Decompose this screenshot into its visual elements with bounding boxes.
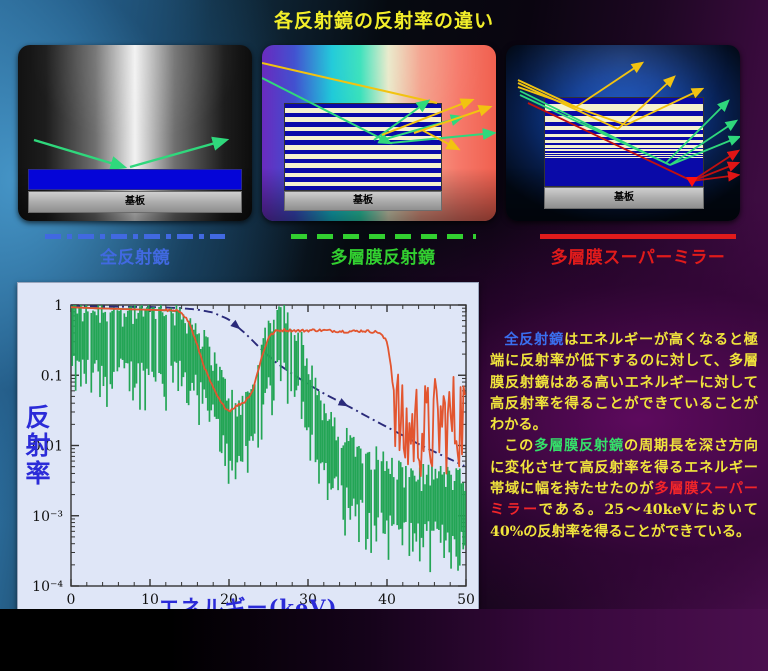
- legend-line-supermirror: [540, 234, 736, 239]
- diagram-multilayer-supermirror: 基板: [506, 45, 740, 221]
- paragraph-2: この多層膜反射鏡の周期長を深さ方向に変化させて高反射率を得るエネルギー帯域に幅を…: [490, 436, 758, 542]
- chart-canvas: 0102030405010.10.0110⁻³10⁻⁴: [18, 283, 478, 619]
- paragraph-1: 全反射鏡はエネルギーが高くなると極端に反射率が低下するのに対して、多層膜反射鏡は…: [490, 330, 758, 436]
- mirror-stack-panel1: 基板: [28, 169, 242, 213]
- legend-line-multilayer: [291, 234, 476, 239]
- svg-text:10⁻³: 10⁻³: [32, 509, 63, 525]
- diagram-total-reflection-mirror: 基板: [18, 45, 252, 221]
- legend-line-total-reflection: [45, 234, 225, 239]
- p2-highlight-multilayer: 多層膜反射鏡: [534, 438, 624, 454]
- svg-text:1: 1: [54, 298, 63, 314]
- p2-seg1: この: [504, 438, 534, 454]
- legend-item-multilayer: 多層膜反射鏡: [278, 234, 488, 268]
- reflectivity-chart: 0102030405010.10.0110⁻³10⁻⁴: [17, 282, 479, 620]
- p1-highlight-total-reflection: 全反射鏡: [504, 332, 564, 348]
- svg-text:0.1: 0.1: [41, 368, 63, 384]
- legend-label-supermirror: 多層膜スーパーミラー: [520, 243, 756, 268]
- chart-x-axis-label: エネルギー(keV): [17, 592, 479, 622]
- chart-y-axis-label: 反射率: [18, 404, 54, 488]
- slide-root: 各反射鏡の反射率の違い 基板 基板: [0, 0, 768, 671]
- diagram-multilayer-mirror: 基板: [262, 45, 496, 221]
- page-title: 各反射鏡の反射率の違い: [0, 6, 768, 33]
- explanation-text: 全反射鏡はエネルギーが高くなると極端に反射率が低下するのに対して、多層膜反射鏡は…: [490, 330, 758, 543]
- ray-arrows-panel3: [506, 45, 740, 221]
- legend-item-total-reflection: 全反射鏡: [30, 234, 240, 268]
- ray-arrows-panel2: [262, 45, 496, 221]
- legend-label-total-reflection: 全反射鏡: [30, 243, 240, 268]
- legend-item-supermirror: 多層膜スーパーミラー: [520, 234, 756, 268]
- reflective-layer: [28, 169, 242, 190]
- substrate-label-1: 基板: [28, 191, 242, 213]
- legend-label-multilayer: 多層膜反射鏡: [278, 243, 488, 268]
